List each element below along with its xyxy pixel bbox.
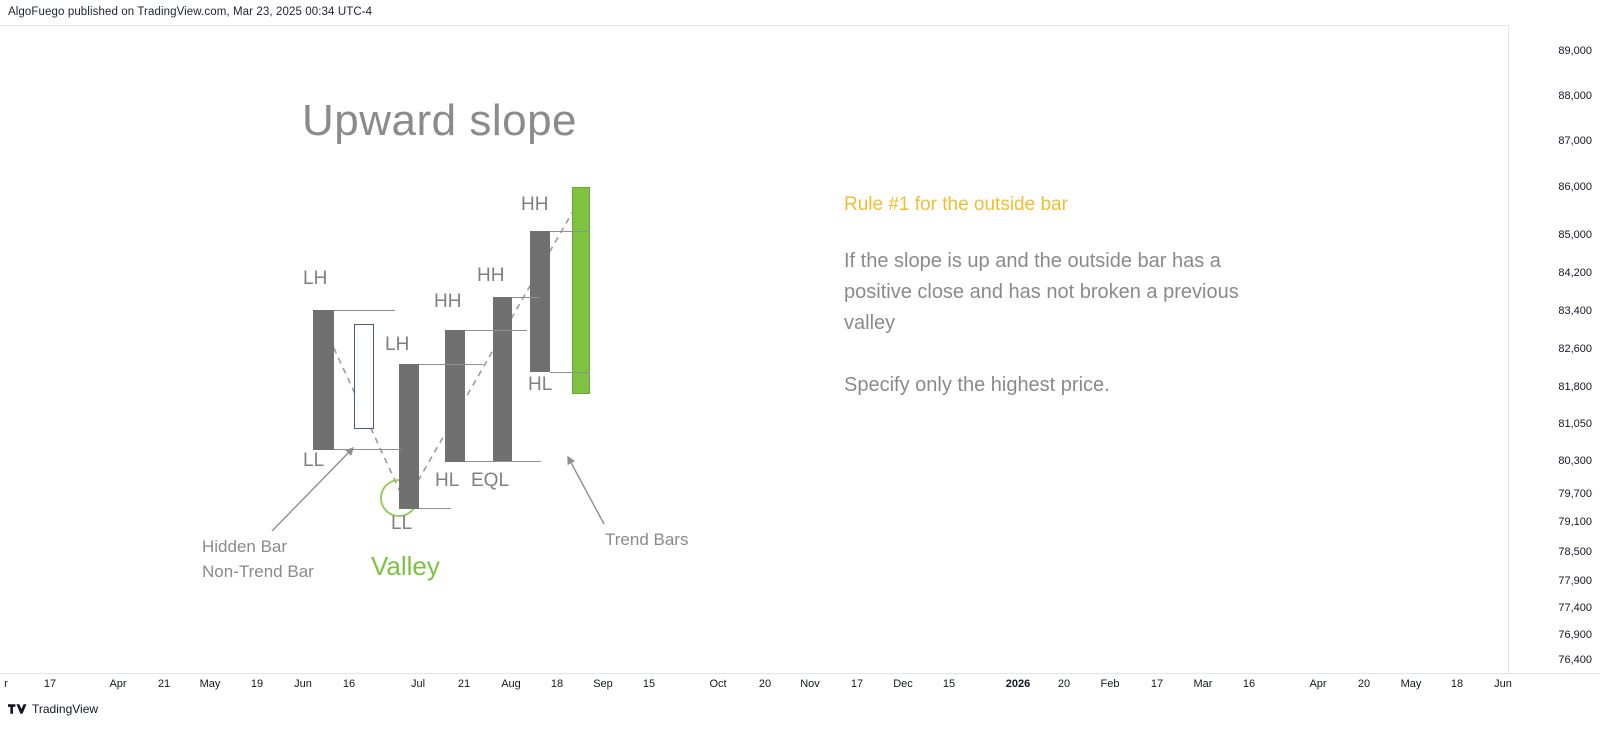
time-tick-3: 21 (158, 678, 170, 690)
time-tick-2: Apr (109, 678, 126, 690)
time-tick-20: 2026 (1006, 678, 1030, 690)
time-tick-0: r (4, 678, 8, 690)
time-tick-12: Sep (593, 678, 613, 690)
time-tick-24: Mar (1194, 678, 1213, 690)
time-tick-23: 17 (1151, 678, 1163, 690)
price-tick-10: 80,300 (1558, 455, 1592, 467)
time-tick-6: Jun (294, 678, 312, 690)
price-tick-7: 82,600 (1558, 343, 1592, 355)
time-axis[interactable]: r17Apr21May19Jun16Jul21Aug18Sep15Oct20No… (0, 673, 1600, 699)
attribution-header: AlgoFuego published on TradingView.com, … (0, 0, 1600, 25)
price-tick-13: 78,500 (1558, 546, 1592, 558)
price-tick-17: 76,400 (1558, 654, 1592, 666)
time-tick-10: Aug (501, 678, 521, 690)
price-tick-3: 86,000 (1558, 181, 1592, 193)
attribution-text: AlgoFuego published on TradingView.com, … (8, 6, 372, 18)
time-tick-30: Jun (1494, 678, 1512, 690)
price-tick-11: 79,700 (1558, 488, 1592, 500)
price-tick-12: 79,100 (1558, 516, 1592, 528)
time-tick-18: Dec (893, 678, 913, 690)
time-tick-29: 18 (1451, 678, 1463, 690)
time-tick-25: 16 (1243, 678, 1255, 690)
time-tick-27: 20 (1358, 678, 1370, 690)
price-tick-6: 83,400 (1558, 305, 1592, 317)
time-tick-19: 15 (943, 678, 955, 690)
time-tick-21: 20 (1058, 678, 1070, 690)
price-tick-5: 84,200 (1558, 267, 1592, 279)
tradingview-logo-icon (8, 703, 27, 716)
time-tick-26: Apr (1309, 678, 1326, 690)
time-tick-4: May (200, 678, 221, 690)
time-tick-8: Jul (411, 678, 425, 690)
time-tick-15: 20 (759, 678, 771, 690)
price-tick-9: 81,050 (1558, 418, 1592, 430)
price-tick-0: 89,000 (1558, 45, 1592, 57)
price-tick-14: 77,900 (1558, 575, 1592, 587)
time-tick-17: 17 (851, 678, 863, 690)
price-tick-16: 76,900 (1558, 629, 1592, 641)
time-tick-1: 17 (44, 678, 56, 690)
price-tick-8: 81,800 (1558, 381, 1592, 393)
tradingview-watermark: TradingView (8, 702, 98, 716)
price-axis[interactable]: 89,00088,00087,00086,00085,00084,20083,4… (1508, 25, 1600, 673)
time-tick-9: 21 (458, 678, 470, 690)
price-tick-1: 88,000 (1558, 90, 1592, 102)
time-tick-14: Oct (709, 678, 726, 690)
price-tick-15: 77,400 (1558, 602, 1592, 614)
price-tick-4: 85,000 (1558, 229, 1592, 241)
chart-plot-area[interactable] (0, 25, 1600, 673)
time-tick-13: 15 (643, 678, 655, 690)
time-tick-7: 16 (343, 678, 355, 690)
time-tick-11: 18 (551, 678, 563, 690)
time-tick-28: May (1401, 678, 1422, 690)
price-tick-2: 87,000 (1558, 135, 1592, 147)
time-tick-5: 19 (251, 678, 263, 690)
time-tick-16: Nov (800, 678, 820, 690)
time-tick-22: Feb (1101, 678, 1120, 690)
tradingview-chart-screenshot: AlgoFuego published on TradingView.com, … (0, 0, 1600, 740)
tradingview-label: TradingView (32, 702, 98, 716)
